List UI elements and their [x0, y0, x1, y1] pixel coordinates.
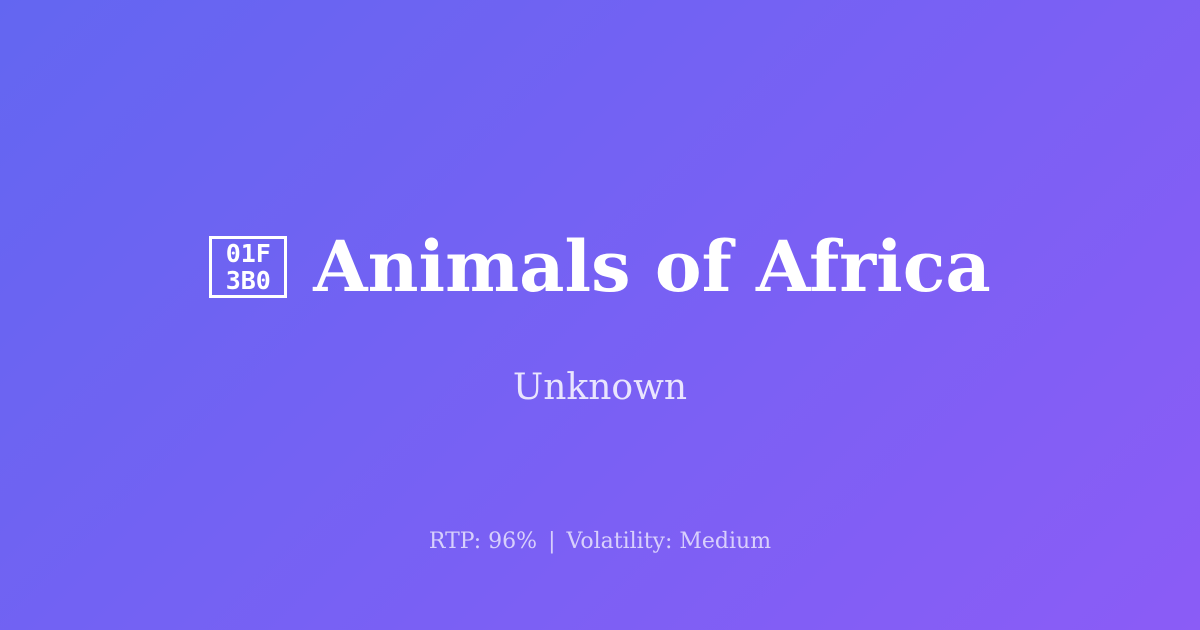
provider-name: Unknown	[0, 366, 1200, 409]
tofu-codepoint-line-2: 3B0	[226, 267, 271, 294]
slot-machine-emoji-icon: 01F 3B0	[209, 236, 287, 298]
rtp-value: RTP: 96%	[429, 529, 537, 554]
meta-separator: |	[544, 529, 559, 554]
game-preview-card: 01F 3B0 Animals of Africa Unknown RTP: 9…	[0, 0, 1200, 630]
game-meta: RTP: 96% | Volatility: Medium	[0, 528, 1200, 557]
volatility-value: Volatility: Medium	[567, 529, 772, 554]
title-row: 01F 3B0 Animals of Africa	[0, 232, 1200, 302]
page-title: Animals of Africa	[313, 232, 990, 302]
tofu-codepoint-line-1: 01F	[226, 240, 271, 267]
